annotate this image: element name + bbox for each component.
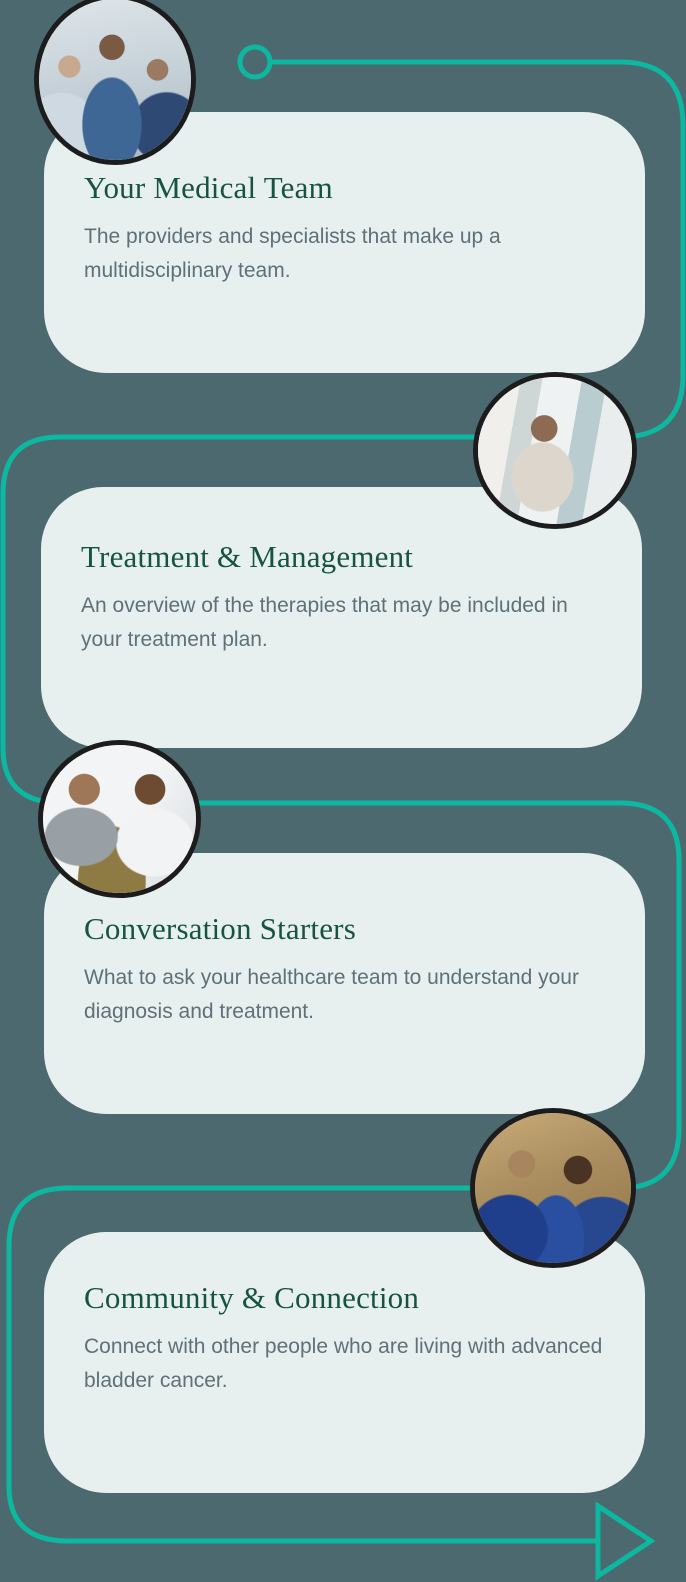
arrow-head-icon (598, 1506, 651, 1576)
start-circle-node (240, 47, 270, 77)
man-reading-image (478, 377, 632, 524)
card-title-3: Conversation Starters (84, 911, 605, 947)
group-hug-outdoors-photo (470, 1108, 636, 1268)
patient-doctor-image (43, 745, 196, 893)
card-body-4: Connect with other people who are living… (84, 1330, 604, 1398)
card-title-1: Your Medical Team (84, 170, 605, 206)
journey-card-4[interactable]: Community & Connection Connect with othe… (44, 1232, 645, 1493)
card-body-2: An overview of the therapies that may be… (81, 589, 601, 657)
patient-and-doctor-talking-photo (38, 740, 201, 898)
card-title-2: Treatment & Management (81, 539, 602, 575)
group-hug-image (475, 1113, 631, 1263)
card-body-3: What to ask your healthcare team to unde… (84, 961, 604, 1029)
journey-flow-diagram: Your Medical Team The providers and spec… (0, 0, 686, 1582)
card-title-4: Community & Connection (84, 1280, 605, 1316)
man-reading-at-home-photo (473, 372, 637, 529)
medical-team-image (39, 0, 191, 160)
card-body-1: The providers and specialists that make … (84, 220, 604, 288)
medical-team-photo (34, 0, 196, 165)
